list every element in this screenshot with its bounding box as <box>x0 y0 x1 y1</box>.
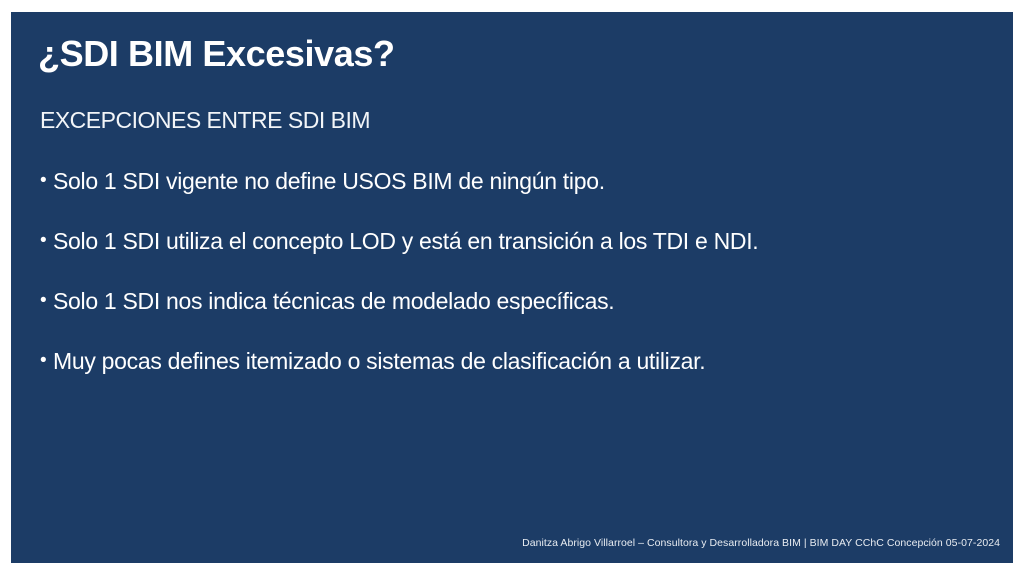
list-item: • Solo 1 SDI vigente no define USOS BIM … <box>40 166 970 226</box>
list-item-label: Solo 1 SDI vigente no define USOS BIM de… <box>53 166 605 196</box>
bullet-list: • Solo 1 SDI vigente no define USOS BIM … <box>40 166 970 406</box>
bullet-point-icon: • <box>40 166 53 196</box>
bullet-point-icon: • <box>40 226 53 256</box>
list-item: • Solo 1 SDI nos indica técnicas de mode… <box>40 286 970 346</box>
list-item: • Muy pocas defines itemizado o sistemas… <box>40 346 970 406</box>
bullet-point-icon: • <box>40 286 53 316</box>
slide-canvas: ¿SDI BIM Excesivas? EXCEPCIONES ENTRE SD… <box>0 0 1024 576</box>
bullet-point-icon: • <box>40 346 53 376</box>
list-item-label: Solo 1 SDI nos indica técnicas de modela… <box>53 286 614 316</box>
slide-footer-credit: Danitza Abrigo Villarroel – Consultora y… <box>522 536 1000 551</box>
presentation-slide: ¿SDI BIM Excesivas? EXCEPCIONES ENTRE SD… <box>11 12 1013 563</box>
page-title: ¿SDI BIM Excesivas? <box>38 32 395 76</box>
list-item-label: Solo 1 SDI utiliza el concepto LOD y est… <box>53 226 758 256</box>
list-item-label: Muy pocas defines itemizado o sistemas d… <box>53 346 705 376</box>
list-item: • Solo 1 SDI utiliza el concepto LOD y e… <box>40 226 970 286</box>
slide-subtitle: EXCEPCIONES ENTRE SDI BIM <box>40 105 370 135</box>
